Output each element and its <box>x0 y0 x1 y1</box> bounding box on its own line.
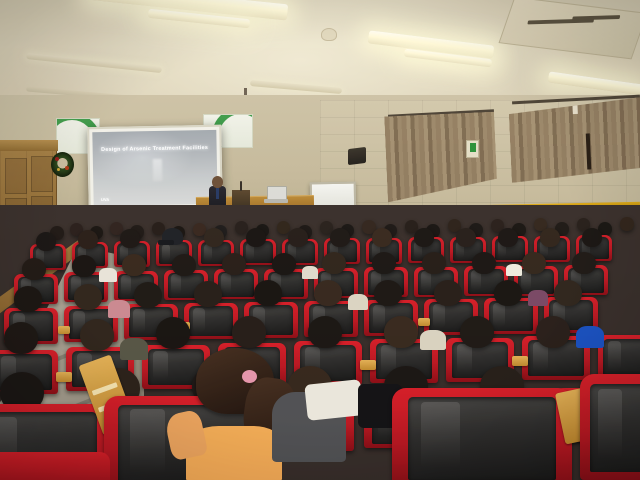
attendee-head <box>74 284 102 310</box>
attendee-head <box>22 258 46 280</box>
attendee-head <box>554 280 582 306</box>
attendee-head <box>422 252 446 274</box>
attendee-head <box>204 228 224 247</box>
attendee-head <box>536 316 570 348</box>
attendee-head <box>14 286 42 312</box>
attendee-head <box>78 230 98 249</box>
emergency-exit-plate <box>466 140 479 158</box>
seat-armrest <box>512 356 528 366</box>
smoke-detector <box>321 28 337 41</box>
attendee-head <box>572 252 596 274</box>
attendee-head <box>372 228 392 247</box>
attendee-head <box>314 280 342 306</box>
attendee-white-bag <box>304 379 363 421</box>
attendee-head <box>372 252 396 274</box>
laptop-base <box>264 199 288 203</box>
attendee-head <box>272 253 296 275</box>
attendee-torso <box>120 338 148 360</box>
decorative-wreath <box>51 152 74 177</box>
attendee-head <box>134 282 162 308</box>
projected-slide: Design of Arsenic Treatment Facilities U… <box>92 130 217 206</box>
seat-foreground-far-right[interactable] <box>580 374 640 480</box>
attendee-head <box>374 280 402 306</box>
door-panel-1 <box>5 158 27 194</box>
cap-brim <box>158 240 174 245</box>
lecture-hall-photo: Design of Arsenic Treatment Facilities U… <box>0 0 640 480</box>
ac-louver-2 <box>572 15 620 20</box>
attendee-head <box>36 232 56 251</box>
attendee-head <box>460 316 494 348</box>
attendee-head <box>172 254 196 276</box>
attendee-head <box>254 280 282 306</box>
attendee-torso <box>302 266 318 279</box>
attendee-head <box>384 316 418 348</box>
attendee-head <box>232 316 266 348</box>
attendee-head <box>194 281 222 307</box>
door-upper-trim <box>0 140 58 151</box>
attendee-torso <box>528 290 548 306</box>
attendee-head <box>120 229 140 248</box>
attendee-head <box>322 252 346 274</box>
presenter-head <box>212 176 223 188</box>
attendee-head <box>4 322 38 354</box>
attendee-torso <box>576 326 604 348</box>
attendee-head <box>72 255 96 277</box>
attendee-head <box>222 253 246 275</box>
attendee-head <box>494 280 522 306</box>
attendee-head <box>288 228 308 247</box>
screen-glare <box>92 130 217 206</box>
attendee-head <box>522 252 546 274</box>
attendee-head <box>156 317 190 349</box>
microphone <box>240 181 242 191</box>
attendee-torso <box>348 294 368 310</box>
attendee-head <box>308 316 342 348</box>
door-panel-2 <box>31 156 53 192</box>
attendee-head <box>246 228 266 247</box>
attendee-torso <box>420 330 446 350</box>
attendee-torso <box>506 264 522 276</box>
attendee-head <box>80 319 114 351</box>
presenter-tie <box>216 188 219 199</box>
attendee-head <box>498 228 518 247</box>
attendee-head <box>472 252 496 274</box>
seat-foreground-right[interactable] <box>392 388 572 480</box>
attendee-head <box>456 228 476 247</box>
attendee-head <box>414 228 434 247</box>
attendee-head <box>122 254 146 276</box>
attendee-head <box>582 228 602 247</box>
attendee-head <box>540 228 560 247</box>
wall-speaker <box>348 147 366 165</box>
attendee-head <box>434 280 462 306</box>
seat-corner-foreground[interactable] <box>0 452 110 480</box>
attendee-head <box>330 228 350 247</box>
